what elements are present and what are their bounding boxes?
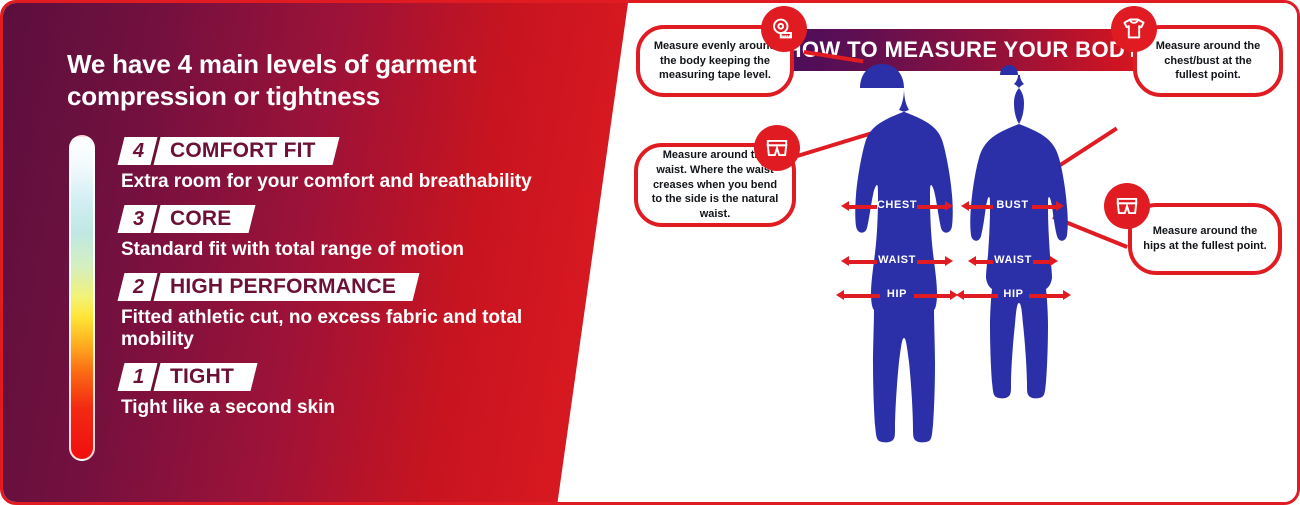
level-badge: 1 TIGHT [118, 363, 258, 391]
shorts-icon [754, 125, 800, 171]
male-hip-label: HIP [836, 288, 958, 300]
tshirt-icon [1111, 6, 1157, 52]
levels-list: 4 COMFORT FIT Extra room for your comfor… [121, 137, 581, 420]
callout-tape-text: Measure evenly around the body keeping t… [650, 39, 780, 83]
page-title: We have 4 main levels of garment compres… [67, 49, 537, 112]
level-title: TIGHT [154, 363, 244, 391]
level-description: Fitted athletic cut, no excess fabric an… [121, 307, 541, 353]
callout-hips-text: Measure around the hips at the fullest p… [1142, 224, 1268, 253]
size-guide-infographic: We have 4 main levels of garment compres… [0, 0, 1300, 505]
tape-measure-icon [761, 6, 807, 52]
level-badge: 2 HIGH PERFORMANCE [118, 273, 420, 301]
shorts-icon [1104, 183, 1150, 229]
female-bust-label: BUST [961, 199, 1064, 211]
level-item-high-performance[interactable]: 2 HIGH PERFORMANCE Fitted athletic cut, … [121, 273, 581, 353]
female-waist-label: WAIST [968, 254, 1058, 266]
male-waist-label: WAIST [841, 254, 953, 266]
level-badge: 3 CORE [118, 205, 256, 233]
level-title: COMFORT FIT [154, 137, 326, 165]
level-description: Tight like a second skin [121, 397, 541, 420]
level-title: HIGH PERFORMANCE [154, 273, 406, 301]
level-description: Standard fit with total range of motion [121, 239, 541, 262]
measurement-guide-panel: HOW TO MEASURE YOUR BODY CHEST [628, 3, 1300, 505]
level-badge: 4 COMFORT FIT [118, 137, 340, 165]
callout-hips[interactable]: Measure around the hips at the fullest p… [1128, 203, 1282, 275]
female-hip-label: HIP [956, 288, 1071, 300]
compression-gradient-bar-icon [69, 135, 95, 461]
callout-chest-text: Measure around the chest/bust at the ful… [1147, 39, 1269, 83]
level-item-core[interactable]: 3 CORE Standard fit with total range of … [121, 205, 581, 262]
compression-levels-content: We have 4 main levels of garment compres… [3, 3, 628, 505]
level-title: CORE [154, 205, 241, 233]
level-item-comfort-fit[interactable]: 4 COMFORT FIT Extra room for your comfor… [121, 137, 581, 194]
female-body-silhouette [970, 65, 1068, 398]
level-item-tight[interactable]: 1 TIGHT Tight like a second skin [121, 363, 581, 420]
level-description: Extra room for your comfort and breathab… [121, 171, 541, 194]
male-chest-label: CHEST [841, 199, 953, 211]
